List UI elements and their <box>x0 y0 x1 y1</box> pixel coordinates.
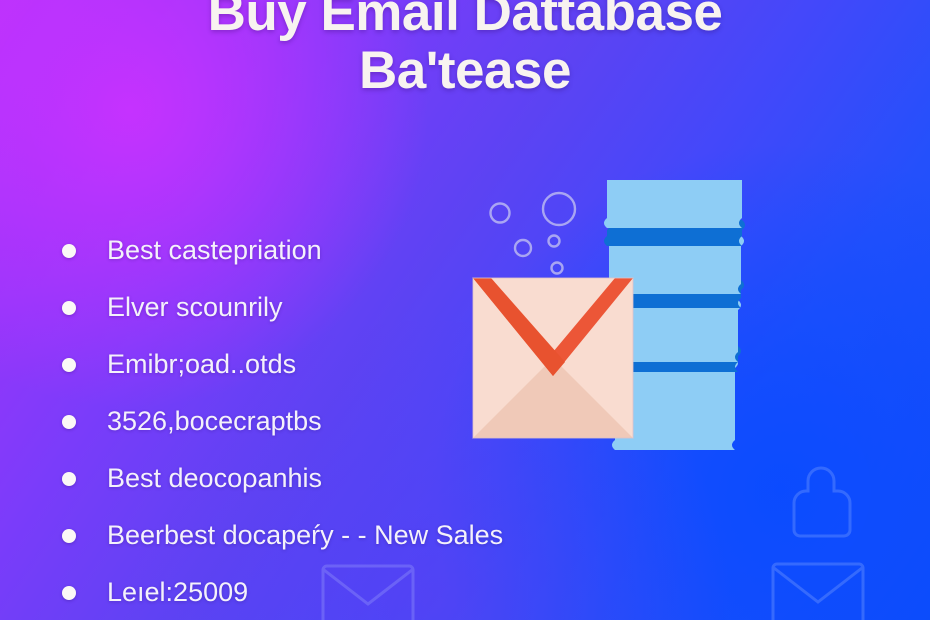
bullet-dot-icon <box>62 244 76 258</box>
bullet-label: 3526,bocecraptbs <box>107 406 322 437</box>
bullet-label: Leıel:25009 <box>107 577 248 608</box>
poster-canvas: Buy Email Dattabase Ba'tease <box>0 0 930 620</box>
list-item: 3526,bocecraptbs <box>62 393 682 450</box>
poster-title: Buy Email Dattabase Ba'tease <box>0 0 930 100</box>
list-item: Beerbest docapeŕy - - New Sales <box>62 507 682 564</box>
feature-bullet-list: Best castepriation Elver scounrily Emibr… <box>62 222 682 620</box>
list-item: Emibr;oad..otds <box>62 336 682 393</box>
bullet-dot-icon <box>62 586 76 600</box>
bullet-label: Best deocoρanhis <box>107 463 322 494</box>
list-item: Elver scounrily <box>62 279 682 336</box>
envelope-outline-icon-right <box>770 560 866 620</box>
bullet-label: Beerbest docapeŕy - - New Sales <box>107 520 503 551</box>
user-outline-icon <box>790 462 852 538</box>
bullet-dot-icon <box>62 529 76 543</box>
bullet-dot-icon <box>62 358 76 372</box>
bullet-label: Emibr;oad..otds <box>107 349 296 380</box>
list-item: Leıel:25009 <box>62 564 682 620</box>
bullet-dot-icon <box>62 472 76 486</box>
list-item: Best deocoρanhis <box>62 450 682 507</box>
bullet-label: Best castepriation <box>107 235 322 266</box>
bullet-dot-icon <box>62 301 76 315</box>
bullet-label: Elver scounrily <box>107 292 283 323</box>
bullet-dot-icon <box>62 415 76 429</box>
title-line-2: Ba'tease <box>0 42 930 100</box>
list-item: Best castepriation <box>62 222 682 279</box>
title-line-1: Buy Email Dattabase <box>0 0 930 42</box>
